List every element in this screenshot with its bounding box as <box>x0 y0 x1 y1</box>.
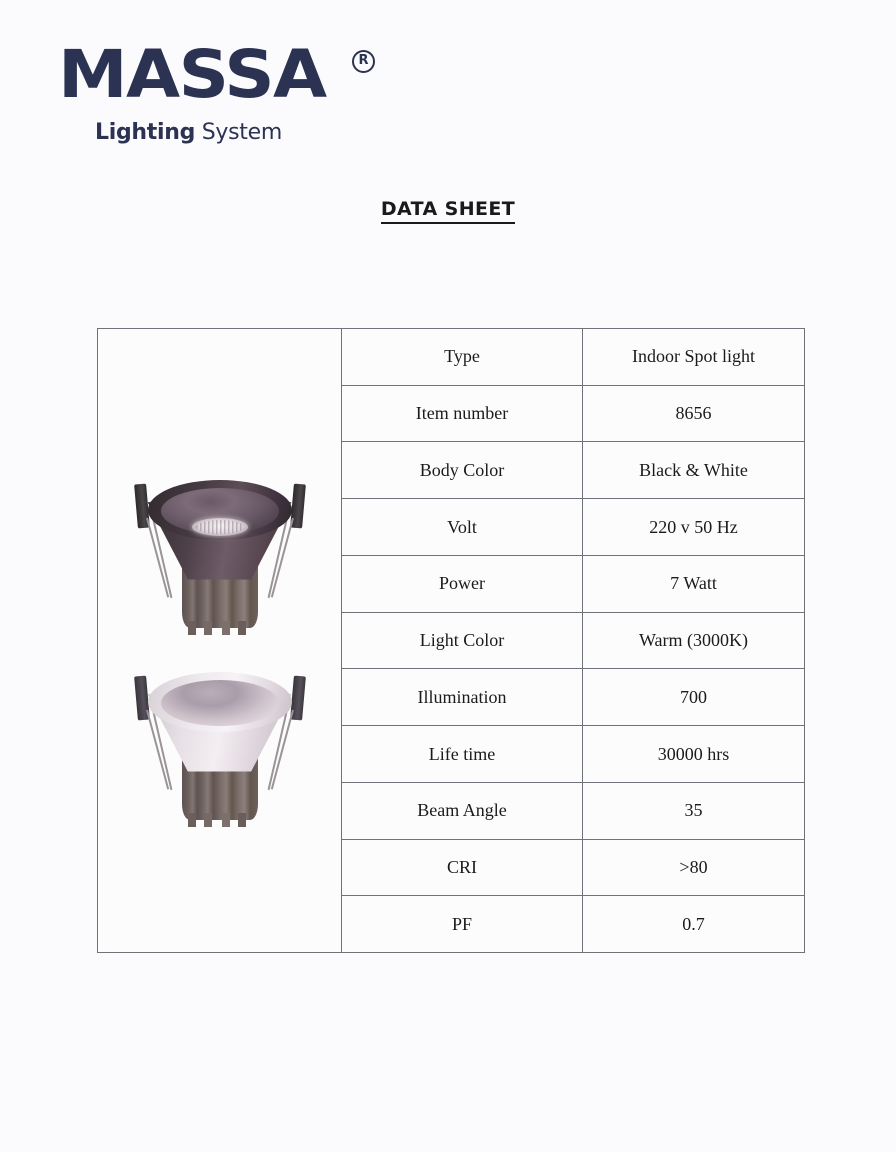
logo-tagline-regular: System <box>202 120 282 145</box>
spec-value: 0.7 <box>583 896 804 952</box>
spec-label: Life time <box>342 726 583 782</box>
white-spot-light-photo <box>130 652 310 822</box>
registered-trademark-icon: R <box>352 50 375 73</box>
black-spot-light-photo <box>130 460 310 630</box>
spec-label: Light Color <box>342 613 583 669</box>
table-row: Body ColorBlack & White <box>342 442 804 499</box>
table-row: TypeIndoor Spot light <box>342 329 804 386</box>
product-image-cell <box>98 329 342 952</box>
fixture-reflector <box>161 680 279 726</box>
spec-value: Warm (3000K) <box>583 613 804 669</box>
spec-value: Black & White <box>583 442 804 498</box>
logo-wordmark: MASSA <box>58 44 326 106</box>
led-chip <box>192 518 248 536</box>
spec-label: Volt <box>342 499 583 555</box>
spec-label: Power <box>342 556 583 612</box>
logo-tagline-bold: Lighting <box>95 120 195 145</box>
table-row: Illumination700 <box>342 669 804 726</box>
spec-label: Beam Angle <box>342 783 583 839</box>
table-row: Power7 Watt <box>342 556 804 613</box>
page-title: DATA SHEET <box>0 198 896 224</box>
logo-tagline: Lighting System <box>95 120 398 145</box>
spec-value: 30000 hrs <box>583 726 804 782</box>
spec-label: PF <box>342 896 583 952</box>
spec-value: >80 <box>583 840 804 896</box>
spec-label: Illumination <box>342 669 583 725</box>
table-row: Light ColorWarm (3000K) <box>342 613 804 670</box>
spec-label: Type <box>342 329 583 385</box>
table-row: Life time30000 hrs <box>342 726 804 783</box>
spec-value: Indoor Spot light <box>583 329 804 385</box>
table-row: CRI>80 <box>342 840 804 897</box>
spec-value: 8656 <box>583 386 804 442</box>
spec-value: 35 <box>583 783 804 839</box>
spec-label: Item number <box>342 386 583 442</box>
spec-value: 700 <box>583 669 804 725</box>
table-row: Item number8656 <box>342 386 804 443</box>
table-row: Beam Angle35 <box>342 783 804 840</box>
spec-rows-container: TypeIndoor Spot lightItem number8656Body… <box>342 329 804 952</box>
spec-value: 220 v 50 Hz <box>583 499 804 555</box>
page-title-text: DATA SHEET <box>381 198 515 224</box>
brand-logo: MASSA R Lighting System <box>58 44 398 145</box>
spec-value: 7 Watt <box>583 556 804 612</box>
logo-wordmark-row: MASSA R <box>58 44 398 106</box>
spec-label: CRI <box>342 840 583 896</box>
spec-table: TypeIndoor Spot lightItem number8656Body… <box>97 328 805 953</box>
table-row: PF0.7 <box>342 896 804 952</box>
spec-label: Body Color <box>342 442 583 498</box>
table-row: Volt220 v 50 Hz <box>342 499 804 556</box>
